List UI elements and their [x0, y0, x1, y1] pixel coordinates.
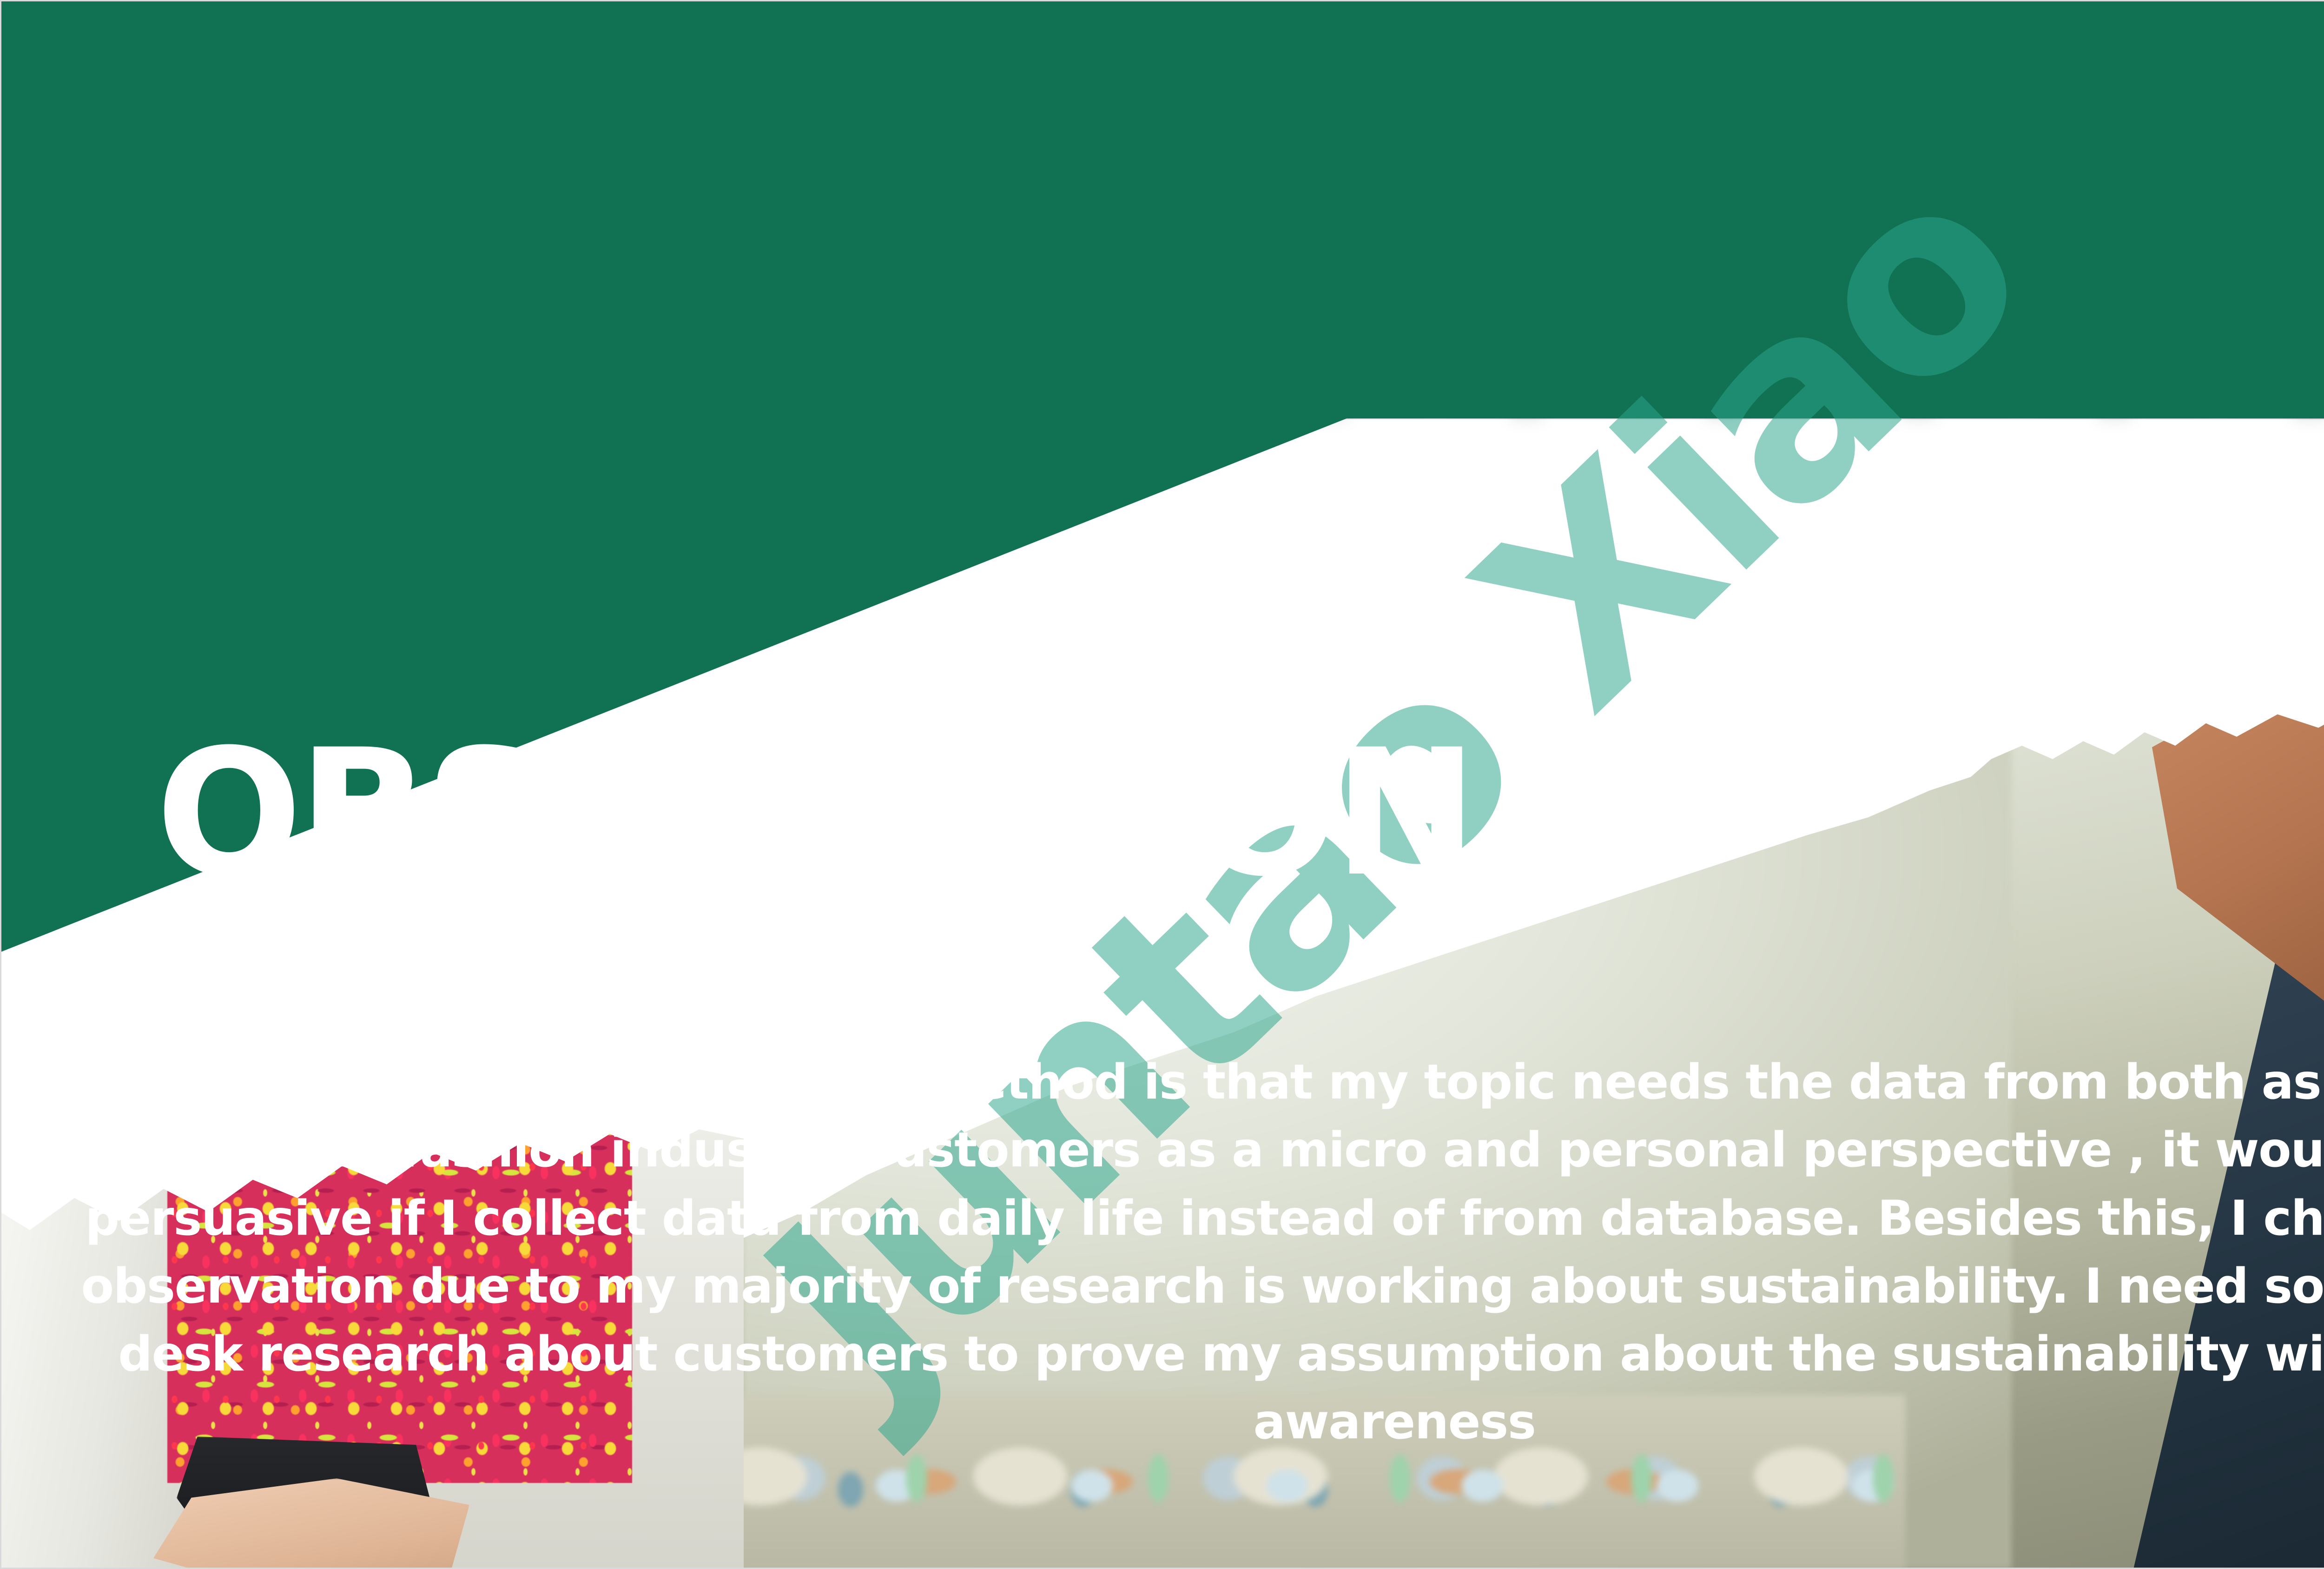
page-title: OBSERVATION	[156, 733, 1473, 895]
photo-face-profile	[2110, 669, 2324, 1023]
presentation-slide: Juntao Xiao OBSERVATION The reason I cho…	[0, 0, 2324, 1569]
body-paragraph: The reason I choose this method is that …	[70, 1048, 2324, 1456]
